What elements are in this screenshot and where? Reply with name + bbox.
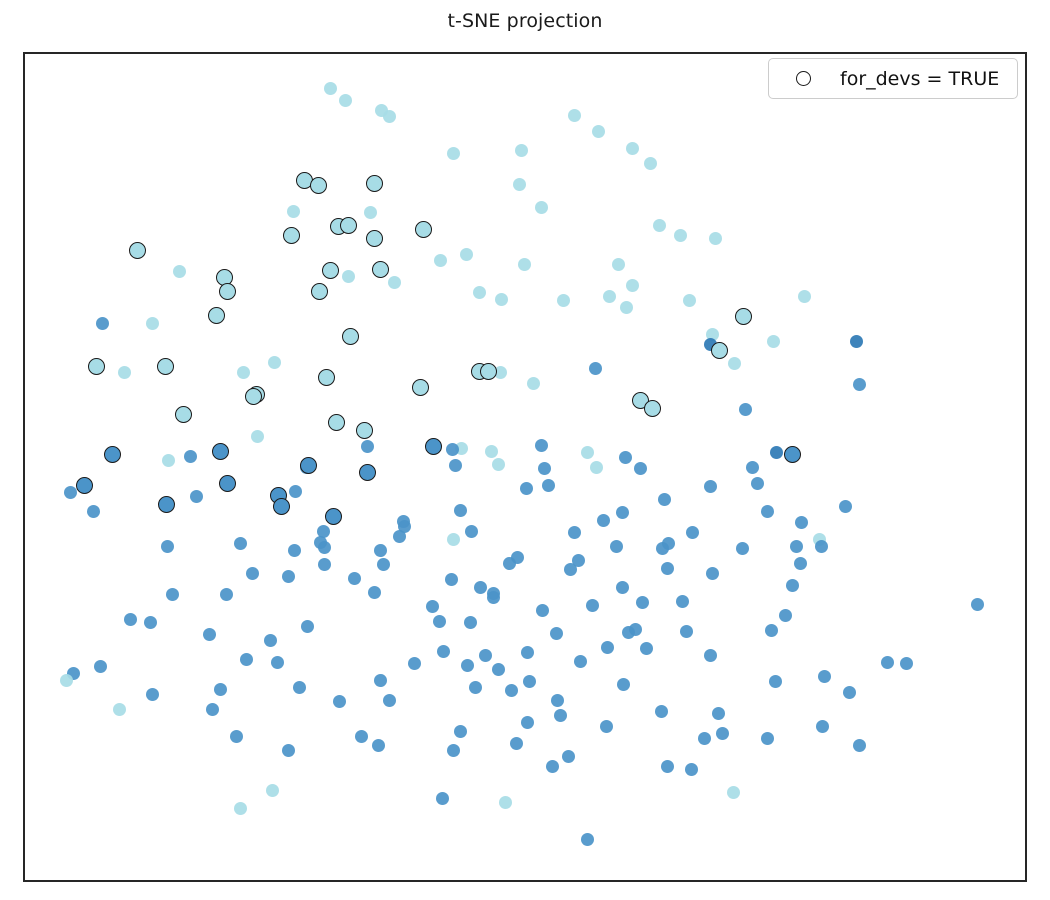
scatter-point xyxy=(372,261,389,278)
scatter-point xyxy=(900,657,913,670)
scatter-point xyxy=(784,446,801,463)
scatter-point xyxy=(310,177,327,194)
scatter-point xyxy=(505,684,518,697)
scatter-point xyxy=(709,232,722,245)
scatter-point xyxy=(661,760,674,773)
scatter-point xyxy=(271,656,284,669)
scatter-point xyxy=(426,600,439,613)
scatter-point xyxy=(736,542,749,555)
scatter-point xyxy=(739,403,752,416)
scatter-point xyxy=(685,763,698,776)
scatter-point xyxy=(568,526,581,539)
scatter-point xyxy=(568,109,581,122)
scatter-point xyxy=(460,248,473,261)
scatter-point xyxy=(786,579,799,592)
scatter-point xyxy=(465,525,478,538)
scatter-point xyxy=(818,670,831,683)
scatter-point xyxy=(546,760,559,773)
scatter-point xyxy=(535,201,548,214)
scatter-point xyxy=(366,175,383,192)
scatter-point xyxy=(219,283,236,300)
scatter-point xyxy=(94,660,107,673)
scatter-point xyxy=(454,725,467,738)
scatter-point xyxy=(479,649,492,662)
scatter-point xyxy=(473,286,486,299)
scatter-point xyxy=(206,703,219,716)
scatter-point xyxy=(129,242,146,259)
scatter-point xyxy=(612,258,625,271)
scatter-point xyxy=(234,802,247,815)
scatter-point xyxy=(146,688,159,701)
scatter-point xyxy=(704,480,717,493)
scatter-point xyxy=(322,262,339,279)
scatter-point xyxy=(843,686,856,699)
page-title: t-SNE projection xyxy=(0,10,1050,32)
scatter-point xyxy=(64,486,77,499)
scatter-point xyxy=(372,739,385,752)
scatter-point xyxy=(661,562,674,575)
scatter-point xyxy=(118,366,131,379)
scatter-point xyxy=(76,477,93,494)
scatter-point xyxy=(88,358,105,375)
scatter-point xyxy=(282,744,295,757)
scatter-point xyxy=(790,540,803,553)
scatter-point xyxy=(355,730,368,743)
scatter-point xyxy=(581,446,594,459)
scatter-point xyxy=(620,301,633,314)
scatter-point xyxy=(361,440,374,453)
scatter-point xyxy=(113,703,126,716)
scatter-point xyxy=(735,308,752,325)
scatter-point xyxy=(520,482,533,495)
scatter-point xyxy=(214,683,227,696)
scatter-point xyxy=(619,451,632,464)
scatter-point xyxy=(184,450,197,463)
scatter-point xyxy=(816,720,829,733)
scatter-point xyxy=(839,500,852,513)
scatter-point xyxy=(487,591,500,604)
scatter-point xyxy=(166,588,179,601)
scatter-point xyxy=(374,544,387,557)
scatter-point xyxy=(521,716,534,729)
scatter-point xyxy=(495,293,508,306)
scatter-point xyxy=(574,655,587,668)
scatter-point xyxy=(616,581,629,594)
scatter-point xyxy=(158,496,175,513)
scatter-point xyxy=(383,110,396,123)
scatter-point xyxy=(288,544,301,557)
scatter-point xyxy=(293,681,306,694)
scatter-point xyxy=(542,479,555,492)
scatter-point xyxy=(415,221,432,238)
scatter-point xyxy=(173,265,186,278)
scatter-point xyxy=(208,307,225,324)
scatter-point xyxy=(515,144,528,157)
scatter-point xyxy=(676,595,689,608)
scatter-point xyxy=(339,94,352,107)
scatter-point xyxy=(590,461,603,474)
scatter-point xyxy=(144,616,157,629)
scatter-point xyxy=(447,744,460,757)
scatter-point xyxy=(686,526,699,539)
scatter-point xyxy=(175,406,192,423)
scatter-point xyxy=(597,514,610,527)
scatter-point xyxy=(162,454,175,467)
legend-marker-icon xyxy=(796,71,811,86)
scatter-point xyxy=(798,290,811,303)
scatter-point xyxy=(266,784,279,797)
scatter-point xyxy=(300,457,317,474)
scatter-point xyxy=(251,430,264,443)
scatter-point xyxy=(219,475,236,492)
scatter-point xyxy=(124,613,137,626)
scatter-point xyxy=(318,558,331,571)
scatter-point xyxy=(683,294,696,307)
scatter-point xyxy=(636,596,649,609)
scatter-point xyxy=(853,739,866,752)
scatter-point xyxy=(412,379,429,396)
scatter-point xyxy=(971,598,984,611)
scatter-point xyxy=(761,505,774,518)
scatter-point xyxy=(601,641,614,654)
scatter-point xyxy=(268,356,281,369)
scatter-point xyxy=(622,626,635,639)
scatter-point xyxy=(706,567,719,580)
scatter-point xyxy=(283,227,300,244)
scatter-point xyxy=(795,516,808,529)
scatter-point xyxy=(485,445,498,458)
scatter-point xyxy=(644,157,657,170)
scatter-point xyxy=(779,609,792,622)
scatter-point xyxy=(434,254,447,267)
scatter-point xyxy=(445,573,458,586)
scatter-point xyxy=(464,616,477,629)
tsne-scatter-figure: t-SNE projection for_devs = TRUE xyxy=(0,0,1050,900)
scatter-point xyxy=(550,627,563,640)
scatter-point xyxy=(433,615,446,628)
scatter-point xyxy=(366,230,383,247)
scatter-point xyxy=(104,446,121,463)
scatter-point xyxy=(480,363,497,380)
scatter-point xyxy=(503,557,516,570)
scatter-point xyxy=(190,490,203,503)
scatter-point xyxy=(318,369,335,386)
scatter-point xyxy=(356,422,373,439)
scatter-point xyxy=(698,732,711,745)
scatter-point xyxy=(765,624,778,637)
scatter-point xyxy=(492,458,505,471)
scatter-point xyxy=(653,219,666,232)
scatter-point xyxy=(282,570,295,583)
scatter-point xyxy=(240,653,253,666)
scatter-point xyxy=(658,493,671,506)
scatter-point xyxy=(301,620,314,633)
scatter-point xyxy=(680,625,693,638)
scatter-point xyxy=(447,147,460,160)
scatter-point xyxy=(728,357,741,370)
scatter-point xyxy=(551,694,564,707)
scatter-point xyxy=(203,628,216,641)
scatter-point xyxy=(264,634,277,647)
scatter-point xyxy=(704,649,717,662)
scatter-point xyxy=(727,786,740,799)
scatter-point xyxy=(523,675,536,688)
scatter-point xyxy=(626,279,639,292)
scatter-point xyxy=(538,462,551,475)
scatter-point xyxy=(230,730,243,743)
scatter-point xyxy=(340,217,357,234)
scatter-point xyxy=(273,498,290,515)
scatter-point xyxy=(383,694,396,707)
scatter-point xyxy=(589,362,602,375)
scatter-point xyxy=(333,695,346,708)
scatter-point xyxy=(581,833,594,846)
scatter-point xyxy=(454,504,467,517)
scatter-point xyxy=(437,645,450,658)
scatter-point xyxy=(769,675,782,688)
scatter-point xyxy=(712,707,725,720)
scatter-point xyxy=(640,642,653,655)
scatter-point xyxy=(393,530,406,543)
scatter-point xyxy=(616,506,629,519)
scatter-point xyxy=(436,792,449,805)
scatter-point xyxy=(518,258,531,271)
scatter-point xyxy=(711,342,728,359)
scatter-point xyxy=(761,732,774,745)
scatter-point xyxy=(603,290,616,303)
legend-entry-label: for_devs = TRUE xyxy=(840,68,999,90)
scatter-point xyxy=(447,533,460,546)
scatter-point xyxy=(586,599,599,612)
scatter-point xyxy=(342,328,359,345)
scatter-point xyxy=(536,604,549,617)
scatter-point xyxy=(146,317,159,330)
scatter-point xyxy=(469,681,482,694)
scatter-point xyxy=(87,505,100,518)
scatter-point xyxy=(557,294,570,307)
scatter-point xyxy=(311,283,328,300)
scatter-point xyxy=(461,659,474,672)
scatter-point xyxy=(600,720,613,733)
scatter-point xyxy=(161,540,174,553)
scatter-point xyxy=(348,572,361,585)
scatter-point xyxy=(96,317,109,330)
scatter-point xyxy=(449,459,462,472)
scatter-point xyxy=(655,705,668,718)
scatter-point xyxy=(342,270,355,283)
scatter-point xyxy=(325,508,342,525)
scatter-point xyxy=(324,82,337,95)
scatter-point xyxy=(853,378,866,391)
scatter-point xyxy=(318,541,331,554)
scatter-point xyxy=(364,206,377,219)
scatter-point xyxy=(770,446,783,459)
legend[interactable]: for_devs = TRUE xyxy=(768,58,1018,99)
scatter-point xyxy=(510,737,523,750)
scatter-point xyxy=(60,674,73,687)
scatter-point xyxy=(212,443,229,460)
plot-area xyxy=(23,52,1027,882)
scatter-point xyxy=(220,588,233,601)
scatter-point xyxy=(634,462,647,475)
scatter-point xyxy=(328,414,345,431)
scatter-point xyxy=(237,366,250,379)
scatter-point xyxy=(374,674,387,687)
scatter-points-layer xyxy=(25,54,1025,880)
scatter-point xyxy=(446,443,459,456)
scatter-point xyxy=(626,142,639,155)
scatter-point xyxy=(377,558,390,571)
scatter-point xyxy=(644,400,661,417)
scatter-point xyxy=(368,586,381,599)
scatter-point xyxy=(287,205,300,218)
scatter-point xyxy=(388,276,401,289)
scatter-point xyxy=(246,567,259,580)
scatter-point xyxy=(674,229,687,242)
scatter-point xyxy=(794,557,807,570)
scatter-point xyxy=(513,178,526,191)
scatter-point xyxy=(617,678,630,691)
scatter-point xyxy=(157,358,174,375)
scatter-point xyxy=(592,125,605,138)
scatter-point xyxy=(521,646,534,659)
scatter-point xyxy=(881,656,894,669)
scatter-point xyxy=(767,335,780,348)
scatter-point xyxy=(850,335,863,348)
scatter-point xyxy=(554,709,567,722)
scatter-point xyxy=(492,663,505,676)
scatter-point xyxy=(527,377,540,390)
scatter-point xyxy=(408,657,421,670)
scatter-point xyxy=(572,554,585,567)
scatter-point xyxy=(289,485,302,498)
scatter-point xyxy=(656,542,669,555)
scatter-point xyxy=(474,581,487,594)
scatter-point xyxy=(234,537,247,550)
scatter-point xyxy=(359,464,376,481)
scatter-point xyxy=(751,477,764,490)
scatter-point xyxy=(716,727,729,740)
scatter-point xyxy=(746,461,759,474)
scatter-point xyxy=(562,750,575,763)
scatter-point xyxy=(245,388,262,405)
scatter-point xyxy=(610,540,623,553)
scatter-point xyxy=(425,438,442,455)
scatter-point xyxy=(535,439,548,452)
scatter-point xyxy=(499,796,512,809)
scatter-point xyxy=(815,540,828,553)
